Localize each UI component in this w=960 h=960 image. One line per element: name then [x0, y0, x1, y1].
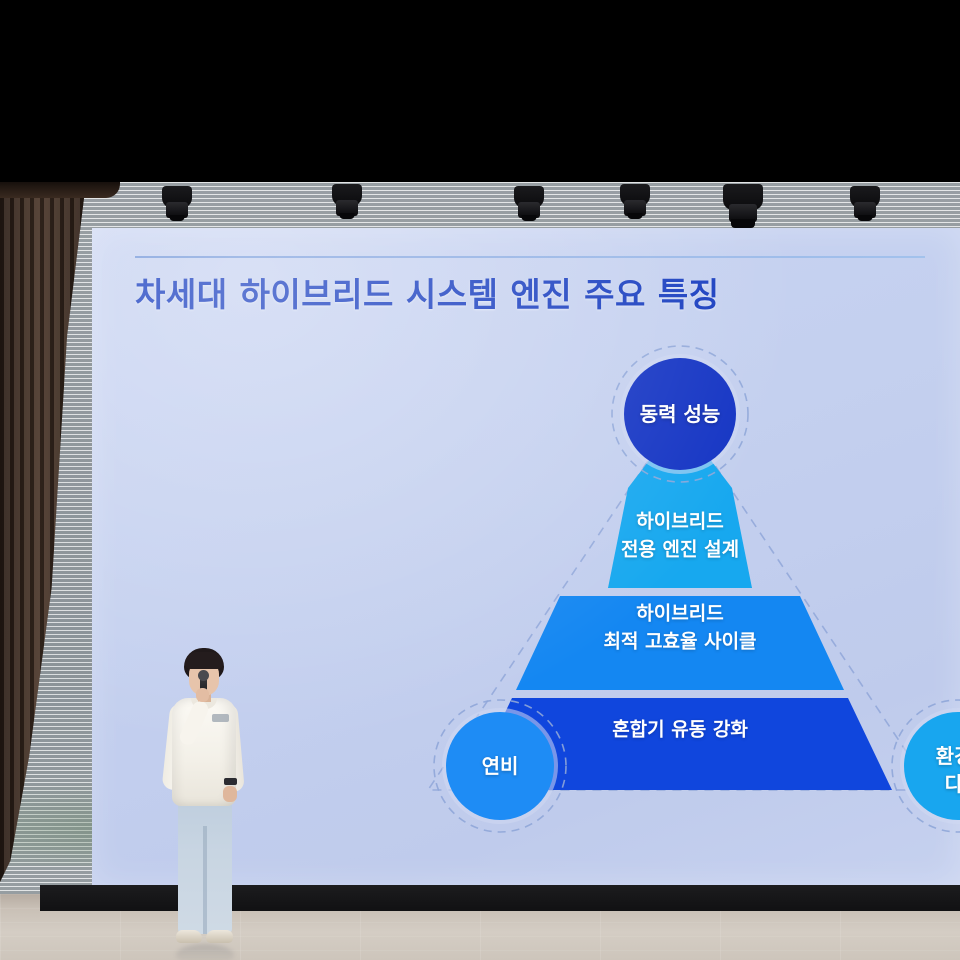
presenter-floor-reflection — [176, 944, 234, 960]
presenter-wristwatch — [224, 778, 237, 785]
ceiling-light-6 — [848, 186, 882, 222]
ceiling-light-5 — [722, 184, 764, 230]
microphone-head-icon — [198, 670, 209, 681]
right-circle — [904, 712, 960, 820]
ceiling-light-4 — [618, 184, 652, 224]
presenter-right-hand — [223, 786, 237, 802]
presenter-hair-front — [185, 652, 223, 669]
sweatshirt-logo — [212, 714, 229, 722]
presenter-left-shoe — [176, 930, 202, 943]
presenter-jeans — [178, 798, 232, 934]
letterbox-top — [0, 0, 960, 182]
presenter-right-shoe — [206, 930, 233, 943]
ceiling-light-3 — [512, 186, 546, 222]
stage-photograph: 차세대 하이브리드 시스템 엔진 주요 특징 — [0, 0, 960, 960]
curtain-rod — [0, 182, 120, 198]
apex-circle — [624, 358, 736, 470]
left-circle — [446, 712, 554, 820]
presenter-left-hand — [196, 688, 209, 702]
pyramid-tier-2 — [516, 596, 844, 690]
ceiling-light-1 — [160, 186, 194, 222]
ceiling-light-2 — [330, 184, 364, 224]
